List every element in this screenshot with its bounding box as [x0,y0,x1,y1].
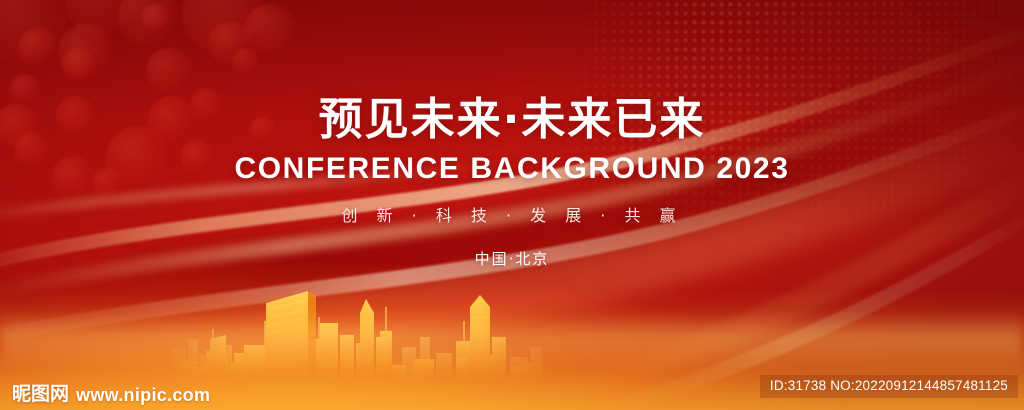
nipic-logo: 昵图网 [12,385,69,404]
image-id-badge: ID:31738 NO:20220912144857481125 [760,375,1018,398]
poster-text-block: 预见未来·未来已来 CONFERENCE BACKGROUND 2023 创 新… [0,96,1024,269]
conference-poster: 预见未来·未来已来 CONFERENCE BACKGROUND 2023 创 新… [0,0,1024,410]
location-label: 中国·北京 [0,248,1024,269]
tagline: 创 新 · 科 技 · 发 展 · 共 赢 [0,202,1024,226]
nipic-url: www.nipic.com [76,386,210,404]
page-subtitle-en: CONFERENCE BACKGROUND 2023 [0,152,1024,186]
watermark: 昵图网 www.nipic.com [12,385,210,404]
page-title: 预见未来·未来已来 [0,96,1024,144]
